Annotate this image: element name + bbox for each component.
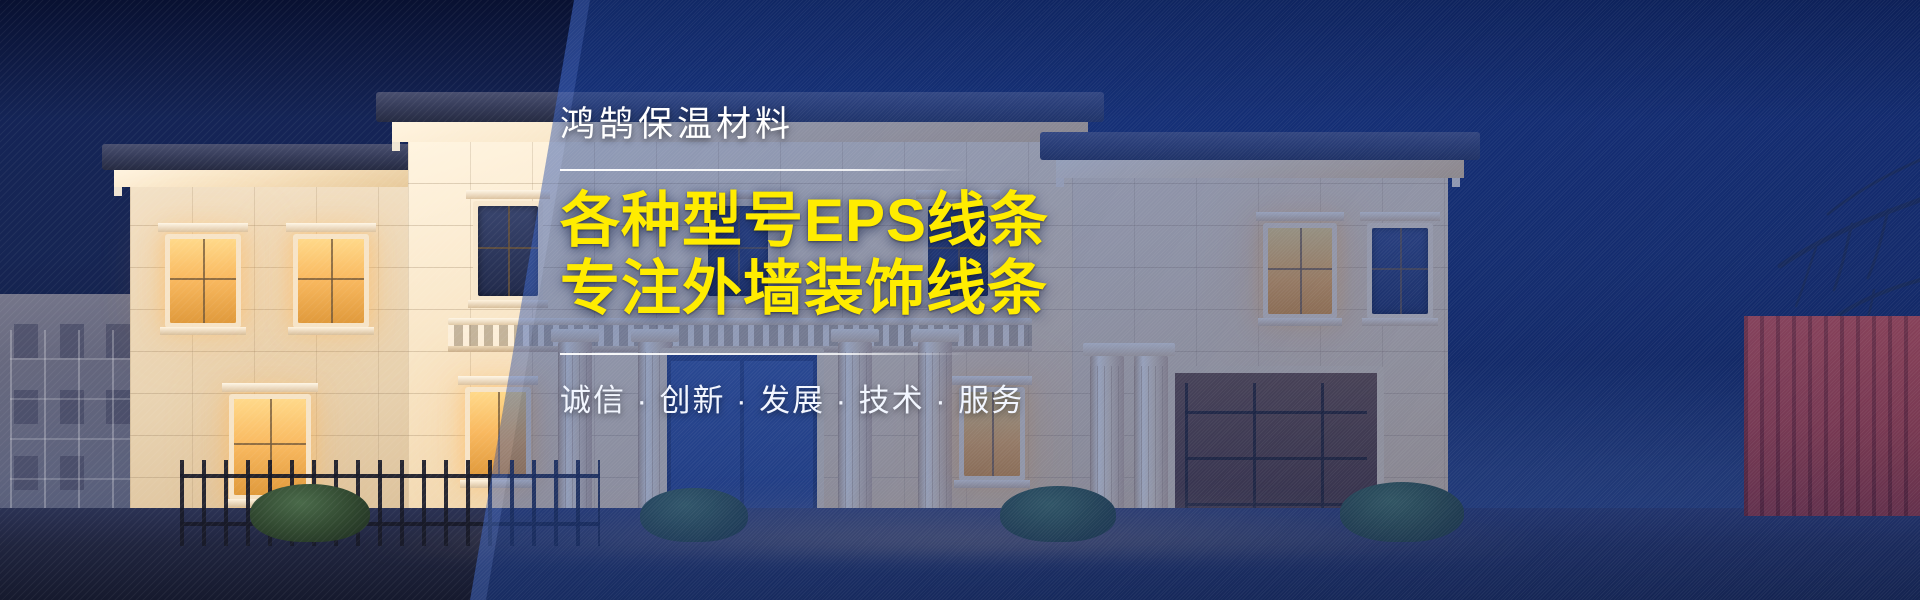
tagline: 诚信 · 创新 · 发展 · 技术 · 服务 bbox=[560, 375, 1460, 420]
window-mullion bbox=[478, 247, 538, 249]
window-sill bbox=[160, 327, 246, 335]
headline-line-2: 专注外墙装饰线条 bbox=[560, 255, 1460, 323]
window-mullion bbox=[298, 278, 364, 280]
window-mullion bbox=[170, 278, 236, 280]
brand-name: 鸿鹄保温材料 bbox=[560, 96, 1460, 147]
cornice bbox=[114, 170, 426, 187]
window-lintel bbox=[466, 190, 550, 199]
shrub bbox=[250, 484, 370, 542]
banner-copy: 鸿鹄保温材料 各种型号EPS线条 专注外墙装饰线条 诚信 · 创新 · 发展 ·… bbox=[560, 96, 1460, 420]
window-sill bbox=[288, 327, 374, 335]
window-mullion bbox=[331, 239, 333, 323]
roof-slab bbox=[102, 144, 438, 170]
window-lintel bbox=[158, 223, 248, 232]
divider-top bbox=[560, 169, 968, 171]
window-mullion bbox=[234, 443, 306, 445]
window-lintel bbox=[286, 223, 376, 232]
hero-banner: 鸿鹄保温材料 各种型号EPS线条 专注外墙装饰线条 诚信 · 创新 · 发展 ·… bbox=[0, 0, 1920, 600]
window-lit bbox=[170, 239, 236, 323]
window-lit bbox=[298, 239, 364, 323]
headline-line-1: 各种型号EPS线条 bbox=[560, 187, 1460, 255]
window-mullion bbox=[508, 206, 510, 296]
window-mullion bbox=[203, 239, 205, 323]
window-lintel bbox=[222, 383, 318, 392]
divider-bottom bbox=[560, 353, 968, 355]
